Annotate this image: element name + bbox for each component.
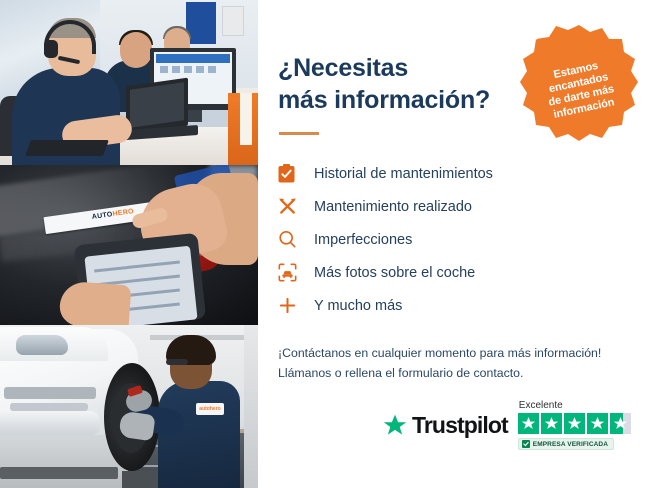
second-agent-head	[120, 32, 152, 68]
uniform-logo-text: autohero	[196, 403, 224, 415]
monitor-screen-header	[156, 54, 230, 63]
car-lower-grille	[10, 403, 88, 411]
car-frame-icon	[278, 261, 304, 285]
check-box-icon	[522, 440, 530, 448]
feature-item-much-more: Y mucho más	[278, 289, 630, 322]
clipboard-check-icon	[278, 162, 304, 186]
status-badge-verified: EMPRESA VERIFICADA	[518, 438, 614, 450]
headset-icon	[520, 23, 540, 43]
safety-glasses	[166, 359, 188, 365]
shelf-paper	[240, 93, 252, 145]
contact-line-1: ¡Contáctanos en cualquier momento para m…	[278, 344, 630, 364]
car-headlight	[16, 335, 68, 355]
star-filled	[564, 413, 585, 434]
trustpilot-star-icon	[382, 413, 408, 438]
plus-icon	[278, 294, 304, 318]
tools-glyph	[278, 197, 297, 216]
headset-earpiece	[44, 40, 58, 58]
star-rating	[518, 413, 631, 434]
desk-tablet	[25, 140, 109, 156]
ruler-brand-auto: AUTO	[91, 211, 113, 221]
car-inspection-photo: AUTOHERO	[0, 165, 258, 325]
star-partial	[610, 413, 631, 434]
car-grille	[4, 387, 96, 399]
workshop-wall-right	[244, 325, 258, 488]
monitor-icon-tile	[196, 66, 204, 73]
feature-item-more-photos: Más fotos sobre el coche	[278, 256, 630, 289]
monitor-icon-tile	[208, 66, 216, 73]
car-lift-arm	[0, 467, 118, 479]
clipboard-check-glyph	[278, 164, 295, 183]
star-icon	[567, 416, 582, 431]
feature-list: Historial de mantenimientos Mantenimient…	[278, 157, 630, 322]
magnifier-glyph	[278, 230, 297, 249]
monitor-icon-tile	[160, 66, 168, 73]
call-center-agents-photo	[0, 0, 258, 165]
trustpilot-wordmark: Trustpilot	[412, 412, 508, 439]
hand-holding-tablet	[59, 281, 132, 325]
feature-item-maintenance-done: Mantenimiento realizado	[278, 190, 630, 223]
page-title-line-2: más información?	[278, 86, 490, 114]
feature-label: Historial de mantenimientos	[314, 166, 493, 182]
title-underline	[279, 132, 319, 135]
monitor-icon-tile	[172, 66, 180, 73]
page-title-line-1: ¿Necesitas	[278, 54, 408, 82]
tools-icon	[278, 195, 304, 219]
ruler-brand-hero: HERO	[112, 208, 134, 218]
feature-label: Más fotos sobre el coche	[314, 265, 475, 281]
feature-label: Imperfecciones	[314, 232, 412, 248]
status-badge: Estamos encantados de darte más informac…	[520, 23, 638, 141]
feature-item-imperfections: Imperfecciones	[278, 223, 630, 256]
feature-item-maintenance-history: Historial de mantenimientos	[278, 157, 630, 190]
photo-column: AUTOHERO	[0, 0, 258, 488]
feature-label: Mantenimiento realizado	[314, 199, 472, 215]
uniform-logo: autohero	[196, 403, 224, 415]
page-title: ¿Necesitas más información?	[278, 52, 513, 116]
trustpilot-rating: Trustpilot Excelente	[382, 400, 631, 450]
star-filled	[587, 413, 608, 434]
feature-label: Y mucho más	[314, 298, 402, 314]
verified-label: EMPRESA VERIFICADA	[533, 441, 608, 448]
check-glyph	[523, 441, 529, 447]
star-filled	[518, 413, 539, 434]
star-icon	[613, 416, 628, 431]
star-icon	[521, 416, 536, 431]
contact-info-banner: AUTOHERO	[0, 0, 650, 488]
star-icon	[590, 416, 605, 431]
car-bumper	[0, 411, 100, 435]
contact-line-2: Llámanos o rellena el formulario de cont…	[278, 364, 630, 384]
content-panel: ¿Necesitas más información? Estamos enca…	[258, 0, 650, 488]
trustpilot-logo: Trustpilot	[382, 412, 508, 439]
rating-label: Excelente	[519, 400, 563, 411]
contact-text: ¡Contáctanos en cualquier momento para m…	[278, 344, 630, 384]
tyre-check-photo: autohero	[0, 325, 258, 488]
laptop-screen	[130, 82, 184, 128]
star-filled	[541, 413, 562, 434]
star-icon	[544, 416, 559, 431]
monitor-icon-tile	[184, 66, 192, 73]
wall-poster-secondary	[222, 6, 244, 36]
trustpilot-score-block: Excelente	[518, 400, 631, 450]
magnifier-icon	[278, 228, 304, 252]
car-frame-glyph	[278, 263, 297, 282]
plus-glyph	[278, 296, 297, 315]
